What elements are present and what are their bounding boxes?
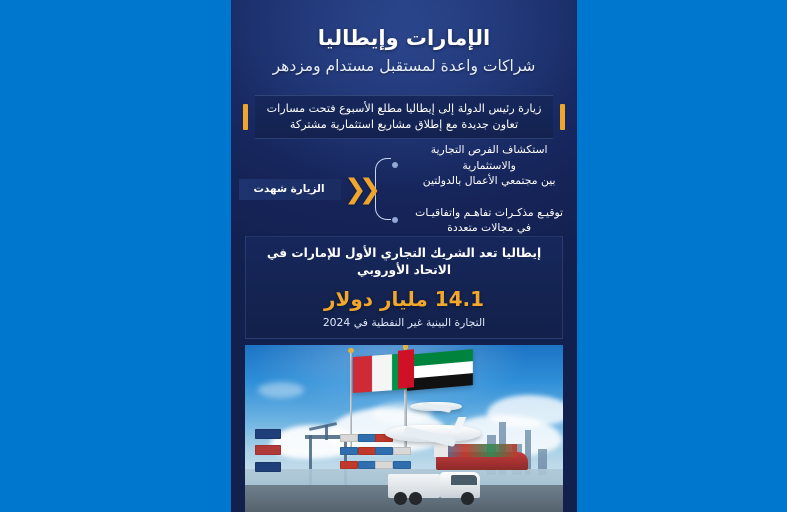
cargo-containers	[255, 429, 281, 439]
list-item: استكشاف الفرص التجارية والاستثمارية بين …	[392, 142, 577, 189]
cloud	[258, 382, 304, 398]
double-chevron-left-icon: ❮❮	[344, 176, 373, 203]
cargo-containers	[255, 445, 281, 455]
stats-lead-line-1: إيطاليا تعد الشريك التجاري الأول للإمارا…	[267, 245, 541, 263]
caption-box: زيارة رئيس الدولة إلى إيطاليا مطلع الأسب…	[255, 95, 553, 139]
cargo-containers	[393, 447, 411, 455]
cargo-containers	[340, 447, 358, 455]
cargo-containers	[340, 461, 358, 469]
cargo-containers	[393, 461, 411, 469]
caption-line-1: زيارة رئيس الدولة إلى إيطاليا مطلع الأسب…	[267, 101, 542, 117]
caption-line-2: تعاون جديدة مع إطلاق مشاريع استثمارية مش…	[267, 117, 542, 133]
highlights-label: ❮❮ الزيارة شهدت	[239, 176, 373, 203]
highlight-1-line-1: استكشاف الفرص التجارية والاستثمارية	[405, 142, 573, 173]
poster-header: الإمارات وإيطاليا شراكات واعدة لمستقبل م…	[231, 26, 577, 75]
uae-flag-hoist	[398, 350, 414, 389]
bracket-connector	[375, 158, 391, 220]
cargo-containers	[255, 462, 281, 472]
cargo-containers	[358, 461, 376, 469]
list-item: توقيـع مذكـرات تفاهـم واتفاقيـات في مجال…	[392, 205, 577, 236]
screenshot-canvas: الإمارات وإيطاليا شراكات واعدة لمستقبل م…	[0, 0, 787, 512]
bullet-dot-icon	[392, 217, 398, 223]
stats-box: إيطاليا تعد الشريك التجاري الأول للإمارا…	[245, 236, 563, 339]
cargo-containers	[358, 447, 376, 455]
highlight-text: استكشاف الفرص التجارية والاستثمارية بين …	[405, 142, 573, 189]
stats-figure: 14.1 مليار دولار	[324, 288, 484, 311]
highlight-text: توقيـع مذكـرات تفاهـم واتفاقيـات في مجال…	[405, 205, 573, 236]
photo-montage	[245, 345, 563, 512]
highlights-section: استكشاف الفرص التجارية والاستثمارية بين …	[239, 148, 577, 230]
cargo-containers	[375, 461, 393, 469]
cargo-containers	[375, 447, 393, 455]
stats-lead: إيطاليا تعد الشريك التجاري الأول للإمارا…	[267, 245, 541, 280]
highlight-2-line-2: في مجالات متعددة	[405, 220, 573, 236]
caption-accent-bar-left	[243, 104, 248, 130]
semi-truck	[388, 473, 480, 505]
cargo-containers	[340, 434, 358, 442]
page-title: الإمارات وإيطاليا	[231, 26, 577, 50]
cloud	[487, 395, 563, 427]
highlight-1-line-2: بين مجتمعي الأعمال بالدولتين	[405, 173, 573, 189]
caption-text: زيارة رئيس الدولة إلى إيطاليا مطلع الأسب…	[267, 101, 542, 133]
caption-accent-bar-right	[560, 104, 565, 130]
highlights-label-text: الزيارة شهدت	[254, 183, 325, 195]
highlights-list: استكشاف الفرص التجارية والاستثمارية بين …	[392, 142, 577, 236]
cargo-containers	[358, 434, 376, 442]
truck-wheel	[409, 492, 422, 505]
truck-windshield	[451, 475, 477, 485]
caption-strip: زيارة رئيس الدولة إلى إيطاليا مطلع الأسب…	[243, 95, 565, 139]
infographic-poster: الإمارات وإيطاليا شراكات واعدة لمستقبل م…	[231, 0, 577, 512]
bullet-dot-icon	[392, 162, 398, 168]
stats-figure-caption: التجارة البينية غير النفطية في 2024	[323, 316, 485, 331]
uae-flag	[407, 349, 473, 391]
highlight-2-line-1: توقيـع مذكـرات تفاهـم واتفاقيـات	[405, 205, 573, 221]
truck-wheel	[461, 492, 474, 505]
highlights-label-box: الزيارة شهدت	[239, 179, 341, 200]
truck-wheel	[394, 492, 407, 505]
page-subtitle: شراكات واعدة لمستقبل مستدام ومزدهر	[231, 57, 577, 75]
stats-lead-line-2: الاتحاد الأوروبي	[267, 262, 541, 280]
